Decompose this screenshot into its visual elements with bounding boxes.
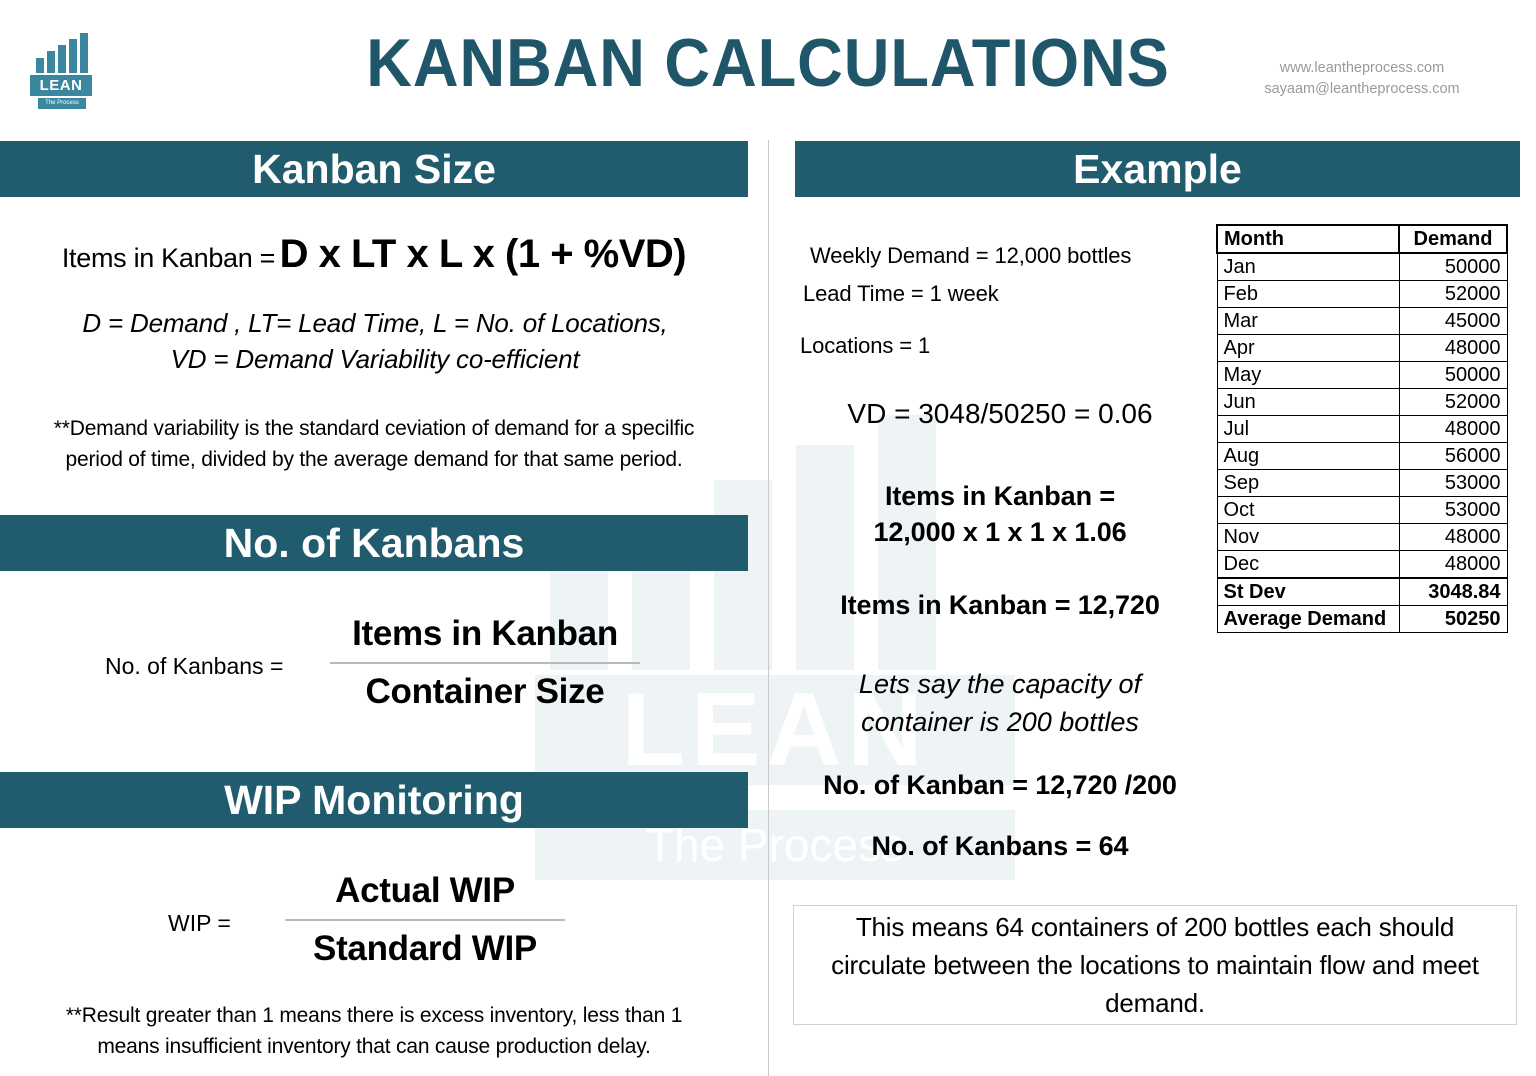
cell-value-st-dev: 3048.84	[1399, 578, 1507, 606]
cell-demand: 45000	[1399, 308, 1507, 335]
cell-month: Jun	[1217, 389, 1399, 416]
no-of-kanbans-label: No. of Kanbans =	[105, 653, 283, 680]
conclusion-text: This means 64 containers of 200 bottles …	[794, 908, 1516, 1022]
section-header-wip-monitoring: WIP Monitoring	[0, 772, 748, 828]
table-row: Jul48000	[1217, 416, 1507, 443]
fraction-numerator: Items in Kanban	[320, 610, 650, 658]
cell-month: Jul	[1217, 416, 1399, 443]
cell-demand: 50000	[1399, 362, 1507, 389]
table-row-average-demand: Average Demand50250	[1217, 606, 1507, 633]
demand-table: Month Demand Jan50000 Feb52000 Mar45000 …	[1216, 224, 1508, 633]
legend-line-1: D = Demand , LT= Lead Time, L = No. of L…	[20, 305, 730, 341]
table-header-row: Month Demand	[1217, 225, 1507, 253]
table-row-st-dev: St Dev3048.84	[1217, 578, 1507, 606]
infographic-page: LEAN The Process LEAN The Process KANBAN…	[0, 0, 1536, 1076]
cell-month: Aug	[1217, 443, 1399, 470]
table-row: Feb52000	[1217, 281, 1507, 308]
demand-variability-note: **Demand variability is the standard cev…	[12, 413, 736, 475]
formula-right-side: D x LT x L x (1 + %VD)	[280, 232, 687, 276]
no-of-kanban-result: No. of Kanbans = 64	[790, 828, 1210, 864]
cell-month: Feb	[1217, 281, 1399, 308]
email-link[interactable]: sayaam@leantheprocess.com	[1212, 79, 1512, 100]
cell-label-average-demand: Average Demand	[1217, 606, 1399, 633]
note-line-1: **Demand variability is the standard cev…	[12, 413, 736, 444]
wip-result-note: **Result greater than 1 means there is e…	[12, 1000, 736, 1062]
section-header-no-of-kanbans: No. of Kanbans	[0, 515, 748, 571]
wip-fraction: Actual WIP Standard WIP	[280, 867, 570, 973]
table-row: Jan50000	[1217, 253, 1507, 281]
assumption-line-2: container is 200 bottles	[795, 703, 1205, 741]
fraction-bar	[285, 919, 565, 921]
cell-demand: 48000	[1399, 524, 1507, 551]
legend-line-2: VD = Demand Variability co-efficient	[20, 341, 730, 377]
column-header-demand: Demand	[1399, 225, 1507, 253]
cell-demand: 53000	[1399, 497, 1507, 524]
cell-demand: 48000	[1399, 416, 1507, 443]
cell-month: Jan	[1217, 253, 1399, 281]
wip-label: WIP =	[168, 910, 231, 937]
items-in-kanban-result: Items in Kanban = 12,720	[795, 587, 1205, 623]
table-row: Jun52000	[1217, 389, 1507, 416]
cell-demand: 52000	[1399, 281, 1507, 308]
note-line-1: **Result greater than 1 means there is e…	[12, 1000, 736, 1031]
cell-month: May	[1217, 362, 1399, 389]
cell-demand: 48000	[1399, 551, 1507, 579]
no-of-kanbans-fraction: Items in Kanban Container Size	[320, 610, 650, 716]
section-header-example: Example	[795, 141, 1520, 197]
table-row: Mar45000	[1217, 308, 1507, 335]
cell-demand: 53000	[1399, 470, 1507, 497]
table-row: Nov48000	[1217, 524, 1507, 551]
table-row: May50000	[1217, 362, 1507, 389]
cell-label-st-dev: St Dev	[1217, 578, 1399, 606]
cell-month: Oct	[1217, 497, 1399, 524]
table-row: Aug56000	[1217, 443, 1507, 470]
column-header-month: Month	[1217, 225, 1399, 253]
formula-legend: D = Demand , LT= Lead Time, L = No. of L…	[20, 305, 730, 377]
section-header-kanban-size: Kanban Size	[0, 141, 748, 197]
note-line-2: period of time, divided by the average d…	[12, 444, 736, 475]
vd-calculation: VD = 3048/50250 = 0.06	[795, 398, 1205, 430]
cell-month: Sep	[1217, 470, 1399, 497]
given-weekly-demand: Weekly Demand = 12,000 bottles	[810, 243, 1131, 269]
cell-month: Dec	[1217, 551, 1399, 579]
conclusion-box: This means 64 containers of 200 bottles …	[793, 905, 1517, 1025]
logo-bar	[36, 58, 44, 73]
kanban-size-formula: Items in Kanban = D x LT x L x (1 + %VD)	[0, 232, 748, 277]
table-row: Apr48000	[1217, 335, 1507, 362]
fraction-numerator: Actual WIP	[280, 867, 570, 915]
cell-month: Apr	[1217, 335, 1399, 362]
table-row: Dec48000	[1217, 551, 1507, 579]
cell-demand: 52000	[1399, 389, 1507, 416]
calc-line-1: Items in Kanban =	[795, 478, 1205, 514]
contact-info: www.leantheprocess.com sayaam@leanthepro…	[1212, 58, 1512, 100]
cell-value-average-demand: 50250	[1399, 606, 1507, 633]
fraction-denominator: Container Size	[320, 668, 650, 716]
cell-month: Mar	[1217, 308, 1399, 335]
items-in-kanban-calculation: Items in Kanban = 12,000 x 1 x 1 x 1.06	[795, 478, 1205, 550]
fraction-denominator: Standard WIP	[280, 925, 570, 973]
table-row: Sep53000	[1217, 470, 1507, 497]
note-line-2: means insufficient inventory that can ca…	[12, 1031, 736, 1062]
assumption-line-1: Lets say the capacity of	[795, 665, 1205, 703]
table-body: Jan50000 Feb52000 Mar45000 Apr48000 May5…	[1217, 253, 1507, 633]
formula-left-side: Items in Kanban =	[62, 243, 275, 273]
given-lead-time: Lead Time = 1 week	[803, 281, 999, 307]
watermark-bar	[714, 480, 772, 670]
cell-demand: 48000	[1399, 335, 1507, 362]
given-locations: Locations = 1	[800, 333, 930, 359]
fraction-bar	[330, 662, 640, 664]
table-row: Oct53000	[1217, 497, 1507, 524]
container-capacity-assumption: Lets say the capacity of container is 20…	[795, 665, 1205, 741]
cell-demand: 56000	[1399, 443, 1507, 470]
calc-line-2: 12,000 x 1 x 1 x 1.06	[795, 514, 1205, 550]
cell-demand: 50000	[1399, 253, 1507, 281]
column-divider	[768, 140, 769, 1076]
no-of-kanban-calculation: No. of Kanban = 12,720 /200	[790, 767, 1210, 803]
cell-month: Nov	[1217, 524, 1399, 551]
website-link[interactable]: www.leantheprocess.com	[1212, 58, 1512, 79]
